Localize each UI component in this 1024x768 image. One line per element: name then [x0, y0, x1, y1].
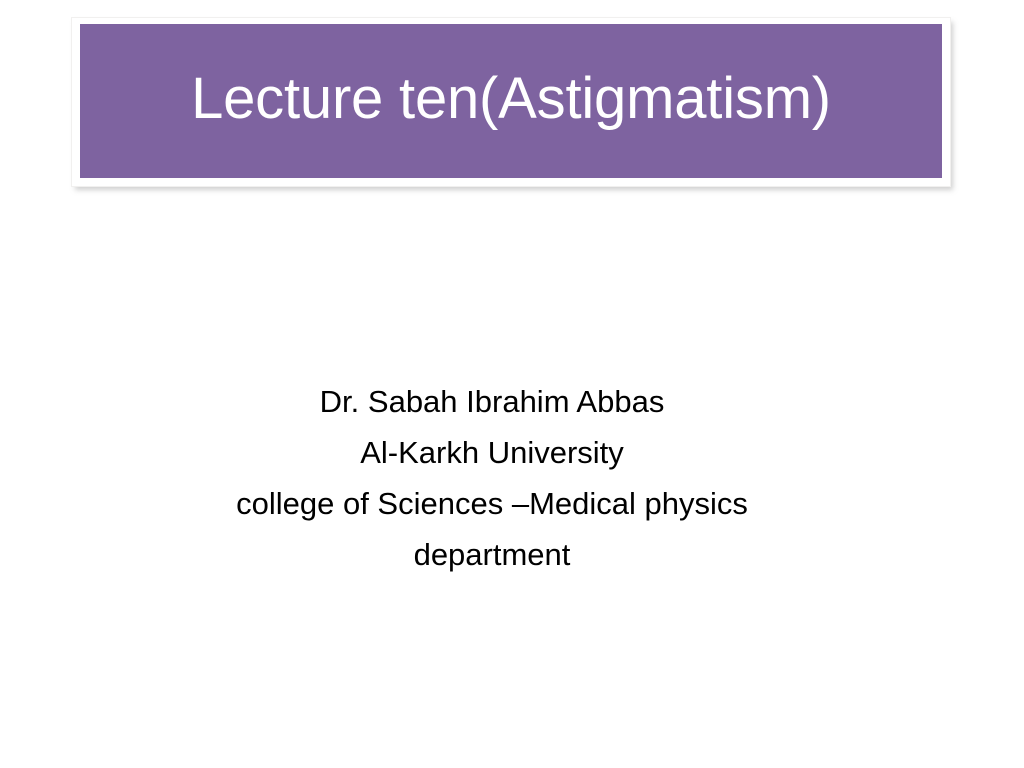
title-banner[interactable]: Lecture ten(Astigmatism): [80, 24, 942, 178]
page-title: Lecture ten(Astigmatism): [191, 69, 831, 134]
body-line-department: department: [62, 529, 922, 580]
body-line-college: college of Sciences –Medical physics: [62, 478, 922, 529]
body-line-author: Dr. Sabah Ibrahim Abbas: [62, 376, 922, 427]
body-text-block: Dr. Sabah Ibrahim Abbas Al-Karkh Univers…: [62, 376, 922, 580]
body-line-university: Al-Karkh University: [62, 427, 922, 478]
slide-canvas: Lecture ten(Astigmatism) Dr. Sabah Ibrah…: [0, 0, 1024, 768]
